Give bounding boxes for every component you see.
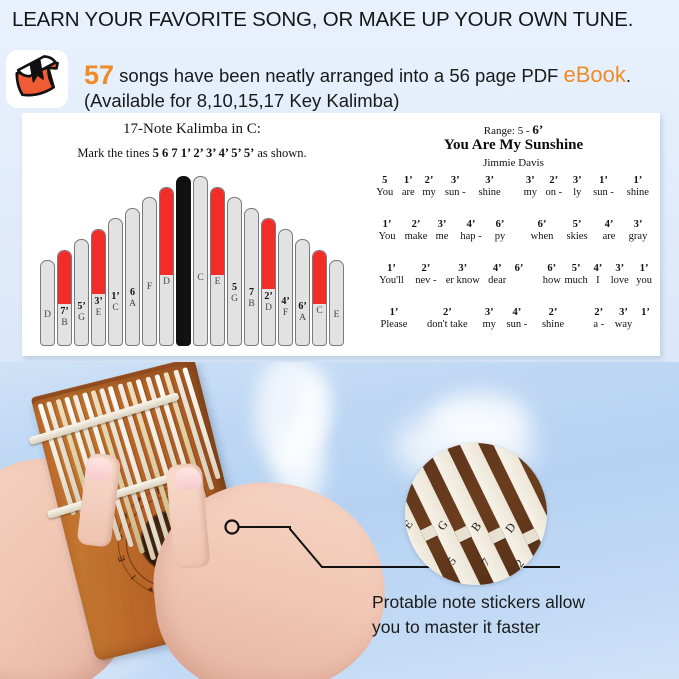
verse-lyric-row: Youmakemehap -pywhenskiesaregray <box>373 231 655 242</box>
tine[interactable]: 2’D <box>261 218 276 346</box>
verse-word: my <box>521 187 539 198</box>
verse-note: 1’ <box>397 175 421 186</box>
tine[interactable]: 7’B <box>57 250 72 346</box>
tine-marked-area <box>160 188 173 275</box>
verse-note: 2’ <box>420 175 438 186</box>
promo-line-1-end: . <box>626 65 631 86</box>
verse-word: shine <box>621 187 655 198</box>
song-count: 57 <box>84 60 114 90</box>
tine[interactable]: C <box>193 176 208 346</box>
verse-note: 1’ <box>374 219 400 230</box>
verse-word: love <box>606 275 633 286</box>
promo-section: LEARN YOUR FAVORITE SONG, OR MAKE UP YOU… <box>0 0 679 362</box>
verse-note: 3’ <box>568 175 586 186</box>
tine-note-label: E <box>330 310 343 320</box>
tine-note-label: C <box>109 303 122 313</box>
verse-note: 6’ <box>541 263 563 274</box>
instruction-notes: 5 6 7 1’ 2’ 3’ 4’ 5’ 5’ <box>153 146 255 160</box>
diagram-title: 17-Note Kalimba in C: <box>22 121 362 138</box>
tine-number-label: 7’ <box>58 306 71 317</box>
tine[interactable]: C <box>312 250 327 346</box>
page-headline: LEARN YOUR FAVORITE SONG, OR MAKE UP YOU… <box>12 8 672 32</box>
verse-word: make <box>400 231 432 242</box>
verse-word: don't take <box>415 319 480 330</box>
ebook-word: eBook <box>564 62 626 87</box>
tine-number-label: 6 <box>126 287 139 298</box>
promo-line-1-mid: songs have been neatly arranged into a 5… <box>114 65 563 86</box>
tine-note-label: B <box>245 299 258 309</box>
tine-note-label: F <box>143 282 156 292</box>
verse-note: 3’ <box>442 263 484 274</box>
verse-note: 2’ <box>400 219 432 230</box>
diagram-instruction: Mark the tines 5 6 7 1’ 2’ 3’ 4’ 5’ 5’ a… <box>22 146 362 161</box>
song-range-high: 6’ <box>532 122 543 137</box>
tine-marked-area <box>262 219 275 289</box>
verse-note: 3’ <box>622 219 654 230</box>
verse-lyric-row: Youaremysun -shinemyon -lysun -shine <box>373 187 655 198</box>
song-verse: 1’2’3’4’6’6’5’4’3’1’You'llnev -er knowde… <box>373 263 655 286</box>
verse-note: 1’ <box>373 307 415 318</box>
verse-word: sun - <box>499 319 535 330</box>
verse-note: 5 <box>373 175 397 186</box>
verse-note: 5’ <box>563 263 590 274</box>
song-verse: 1’2’3’4’6’6’5’4’3’Youmakemehap -pywhensk… <box>373 219 655 242</box>
verse-note-row: 1’2’3’4’6’6’5’4’3’ <box>373 219 655 230</box>
tine[interactable]: 4’F <box>278 229 293 346</box>
tine-note-label: G <box>228 294 241 304</box>
cloud <box>430 392 530 447</box>
tine[interactable]: 6’A <box>295 239 310 346</box>
tine-note-label: C <box>194 273 207 283</box>
verse-note: 4’ <box>590 263 607 274</box>
tine-note-label: G <box>75 313 88 323</box>
verse-note: 6’ <box>511 263 528 274</box>
verse-word: me <box>432 231 452 242</box>
promo-line-2: (Available for 8,10,15,17 Key Kalimba) <box>84 90 679 112</box>
tine[interactable]: E <box>210 187 225 346</box>
song-range: Range: 5 - 6’ <box>367 122 660 138</box>
verse-word: ly <box>568 187 586 198</box>
verse-word: You <box>374 231 400 242</box>
verse-note: 3’ <box>480 307 499 318</box>
verse-word: skies <box>558 231 596 242</box>
verse-note: 2’ <box>535 307 571 318</box>
verse-note: 1’ <box>621 175 655 186</box>
verse-word: my <box>420 187 438 198</box>
sticker-magnifier: C1E3G5B7D2 <box>405 443 547 585</box>
caption-line-1: Protable note stickers allow <box>372 590 672 615</box>
magnifier-content: C1E3G5B7D2 <box>405 443 547 585</box>
instruction-prefix: Mark the tines <box>77 146 152 160</box>
song-verse: 1’2’3’4’2’2’3’1’Pleasedon't takemysun -s… <box>373 307 655 330</box>
verse-word: are <box>397 187 421 198</box>
tine-marked-area <box>313 251 326 304</box>
right-thumb-nail <box>174 467 202 491</box>
tine[interactable] <box>176 176 191 346</box>
tine-note-label: D <box>160 277 173 287</box>
verse-word: gray <box>622 231 654 242</box>
verse-word: hap - <box>452 231 490 242</box>
tine-marked-area <box>92 230 105 294</box>
verse-note: 4’ <box>499 307 535 318</box>
tine-row: D7’B5’G3’E1’C6AFDCE5G7B2’D4’F6’ACE <box>40 171 350 346</box>
verse-note: 1’ <box>586 175 620 186</box>
tine-number-label: 4’ <box>279 296 292 307</box>
tine-number-label: 3’ <box>92 296 105 307</box>
tine[interactable]: 6A <box>125 208 140 346</box>
verse-note: 3’ <box>611 307 636 318</box>
tine-number-label: 6’ <box>296 301 309 312</box>
tine[interactable]: 3’E <box>91 229 106 346</box>
tine[interactable]: D <box>40 260 55 346</box>
tine[interactable]: 7B <box>244 208 259 346</box>
verse-lyric-row: Pleasedon't takemysun -shinea -way <box>373 319 655 330</box>
verse-note: 5’ <box>558 219 596 230</box>
tine-note-label: E <box>211 277 224 287</box>
instruction-suffix: as shown. <box>254 146 306 160</box>
cloud <box>296 370 330 440</box>
verse-word: way <box>611 319 636 330</box>
verse-note: 2’ <box>586 307 611 318</box>
verse-note: 3’ <box>432 219 452 230</box>
verse-word: sun - <box>438 187 472 198</box>
product-infographic: LEARN YOUR FAVORITE SONG, OR MAKE UP YOU… <box>0 0 679 679</box>
verse-word: my <box>480 319 499 330</box>
tine-note-label: A <box>126 299 139 309</box>
verse-word: sun - <box>586 187 620 198</box>
tine[interactable]: 5G <box>227 197 242 346</box>
caption-line-2: you to master it faster <box>372 615 672 640</box>
verse-note: 4’ <box>484 263 511 274</box>
song-author: Jimmie Davis <box>367 157 660 169</box>
verse-word: er know <box>442 275 484 286</box>
verse-note: 3’ <box>438 175 472 186</box>
tine-number-label: 5’ <box>75 301 88 312</box>
tine-number-label: 5 <box>228 282 241 293</box>
verse-note: 1’ <box>373 263 410 274</box>
verse-note-row: 1’2’3’4’2’2’3’1’ <box>373 307 655 318</box>
tine-note-label: D <box>262 303 275 313</box>
tine[interactable]: D <box>159 187 174 346</box>
verse-word: py <box>490 231 510 242</box>
verse-word: are <box>596 231 622 242</box>
verse-word: how <box>541 275 563 286</box>
verse-word: much <box>563 275 590 286</box>
tine-number-label: 1’ <box>109 291 122 302</box>
verse-note-row: 1’2’3’4’6’6’5’4’3’1’ <box>373 263 655 274</box>
tine[interactable]: F <box>142 197 157 346</box>
photo-caption: Protable note stickers allow you to mast… <box>372 590 672 640</box>
verse-note: 4’ <box>596 219 622 230</box>
song-title: You Are My Sunshine <box>367 137 660 154</box>
verse-word: dear <box>484 275 511 286</box>
verse-note: 4’ <box>452 219 490 230</box>
verse-note: 6’ <box>526 219 558 230</box>
verse-word: nev - <box>410 275 442 286</box>
song-verse: 51’2’3’3’3’2’3’1’1’Youaremysun -shinemyo… <box>373 175 655 198</box>
kalimba-diagram: 17-Note Kalimba in C: Mark the tines 5 6… <box>22 113 362 356</box>
tine-number-label: 7 <box>245 287 258 298</box>
verse-lyric-row: You'llnev -er knowdearhowmuchIloveyou <box>373 275 655 286</box>
verse-word: a - <box>586 319 611 330</box>
verse-word: Please <box>373 319 415 330</box>
verse-word: You <box>373 187 397 198</box>
verse-note: 1’ <box>633 263 655 274</box>
tine-note-label: B <box>58 318 71 328</box>
verse-note: 2’ <box>410 263 442 274</box>
tine-number-label: 2’ <box>262 291 275 302</box>
verse-note: 1’ <box>636 307 655 318</box>
promo-line-1: 57 songs have been neatly arranged into … <box>84 60 679 90</box>
verse-word: you <box>633 275 655 286</box>
verse-note: 3’ <box>521 175 539 186</box>
verse-note: 3’ <box>606 263 633 274</box>
tine[interactable]: 5’G <box>74 239 89 346</box>
song-range-label: Range: 5 - <box>484 125 533 137</box>
verse-note: 2’ <box>539 175 568 186</box>
verse-word: when <box>526 231 558 242</box>
tine[interactable]: 1’C <box>108 218 123 346</box>
verse-note: 6’ <box>490 219 510 230</box>
instruction-card: 17-Note Kalimba in C: Mark the tines 5 6… <box>22 113 660 356</box>
tine-note-label: D <box>41 310 54 320</box>
tine-note-label: F <box>279 308 292 318</box>
tine-note-label: C <box>313 306 326 316</box>
tine-note-label: E <box>92 308 105 318</box>
verse-word: on - <box>539 187 568 198</box>
verse-note: 3’ <box>472 175 506 186</box>
ebook-icon <box>6 50 68 108</box>
verse-note-row: 51’2’3’3’3’2’3’1’1’ <box>373 175 655 186</box>
tine-marked-area <box>58 251 71 304</box>
verse-note: 2’ <box>415 307 480 318</box>
verse-word: You'll <box>373 275 410 286</box>
verse-word: shine <box>535 319 571 330</box>
tine-note-label: A <box>296 313 309 323</box>
tine[interactable]: E <box>329 260 344 346</box>
song-sheet: Range: 5 - 6’ You Are My Sunshine Jimmie… <box>367 113 660 356</box>
verse-word: shine <box>472 187 506 198</box>
tine-marked-area <box>211 188 224 275</box>
verse-word: I <box>590 275 607 286</box>
